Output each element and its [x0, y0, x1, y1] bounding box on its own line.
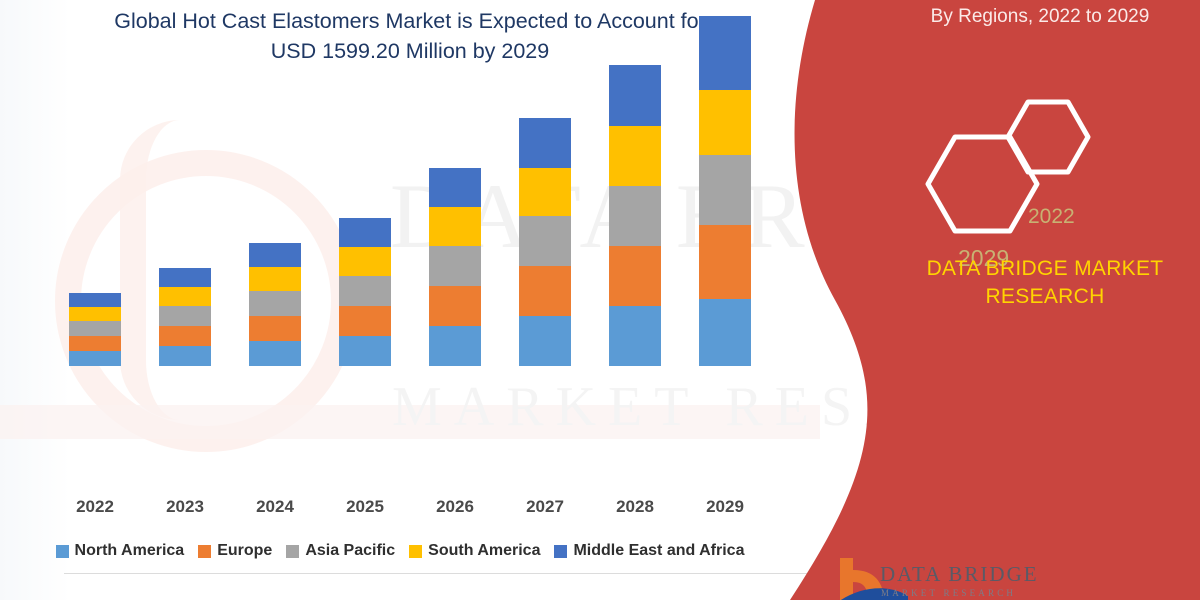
- legend-item[interactable]: South America: [409, 542, 540, 560]
- bar-segment: [249, 316, 301, 341]
- legend-item[interactable]: Middle East and Africa: [554, 542, 744, 560]
- bar-segment: [609, 306, 661, 366]
- bar-segment: [159, 326, 211, 346]
- bar-segment: [69, 351, 121, 366]
- legend-item[interactable]: Europe: [198, 542, 272, 560]
- bar-segment: [699, 155, 751, 225]
- legend-label: South America: [428, 542, 540, 560]
- hexagon-small-icon: [1008, 102, 1088, 172]
- bar-segment: [69, 307, 121, 321]
- bar-column: [249, 243, 301, 366]
- bar-segment: [249, 243, 301, 267]
- chart-legend: North AmericaEuropeAsia PacificSouth Ame…: [0, 538, 800, 564]
- legend-swatch-icon: [554, 545, 567, 558]
- bar-segment: [609, 65, 661, 126]
- brand-line-1: DATA BRIDGE MARKET: [927, 257, 1164, 280]
- bar-column: [429, 168, 481, 366]
- legend-label: Asia Pacific: [305, 542, 395, 560]
- bar-column: [519, 118, 571, 366]
- bar-column: [159, 268, 211, 366]
- legend-swatch-icon: [409, 545, 422, 558]
- bar-segment: [699, 299, 751, 366]
- bar-segment: [339, 276, 391, 306]
- bar-column: [609, 65, 661, 366]
- bar-segment: [609, 246, 661, 306]
- bar-segment: [159, 306, 211, 326]
- bar-segment: [339, 247, 391, 276]
- bar-column: [69, 293, 121, 366]
- bar-segment: [339, 306, 391, 336]
- bar-segment: [699, 16, 751, 90]
- bar-segment: [699, 90, 751, 155]
- brand-line-2: RESEARCH: [985, 285, 1104, 308]
- bar-segment: [69, 336, 121, 351]
- legend-swatch-icon: [286, 545, 299, 558]
- bar-segment: [519, 118, 571, 168]
- bar-segment: [159, 346, 211, 366]
- legend-swatch-icon: [56, 545, 69, 558]
- bar-segment: [249, 291, 301, 316]
- bar-segment: [519, 266, 571, 316]
- brand-name: DATA BRIDGE MARKET RESEARCH: [885, 255, 1200, 311]
- bar-segment: [429, 168, 481, 207]
- bar-segment: [519, 168, 571, 216]
- x-axis-tick-label: 2029: [680, 497, 770, 517]
- x-axis-tick-label: 2028: [590, 497, 680, 517]
- panel-subtitle: By Regions, 2022 to 2029: [880, 6, 1200, 28]
- hexagon-large-icon: [928, 137, 1037, 231]
- bar-segment: [249, 267, 301, 291]
- bar-segment: [609, 126, 661, 186]
- bar-column: [339, 218, 391, 366]
- x-axis-tick-label: 2027: [500, 497, 590, 517]
- legend-item[interactable]: North America: [56, 542, 185, 560]
- legend-label: North America: [75, 542, 185, 560]
- bar-segment: [609, 186, 661, 246]
- hexagon-icons: [900, 80, 1200, 260]
- x-axis-tick-label: 2025: [320, 497, 410, 517]
- x-axis-tick-label: 2024: [230, 497, 320, 517]
- bar-segment: [699, 225, 751, 299]
- bar-segment: [519, 316, 571, 366]
- bar-segment: [159, 268, 211, 287]
- bar-segment: [249, 341, 301, 366]
- infographic-canvas: DATA BRIDGE MARKET RESEARCH Global Hot C…: [0, 0, 1200, 600]
- hexagon-badges: 2029 2022: [900, 80, 1200, 250]
- bar-segment: [69, 321, 121, 336]
- legend-label: Europe: [217, 542, 272, 560]
- bar-segment: [519, 216, 571, 266]
- legend-item[interactable]: Asia Pacific: [286, 542, 395, 560]
- legend-swatch-icon: [198, 545, 211, 558]
- bar-segment: [159, 287, 211, 306]
- x-axis-labels: 20222023202420252026202720282029: [30, 497, 790, 523]
- bar-segment: [429, 246, 481, 286]
- x-axis-line: [64, 573, 812, 574]
- logo-tagline: MARKET RESEARCH: [881, 588, 1016, 598]
- hexagon-small-label: 2022: [1028, 205, 1075, 229]
- bar-column: [699, 16, 751, 366]
- bar-segment: [429, 286, 481, 326]
- bar-group: [30, 0, 790, 483]
- x-axis-tick-label: 2026: [410, 497, 500, 517]
- bar-segment: [69, 293, 121, 307]
- bar-segment: [339, 336, 391, 366]
- legend-label: Middle East and Africa: [573, 542, 744, 560]
- logo-wordmark: DATA BRIDGE: [880, 562, 1039, 587]
- bar-segment: [429, 207, 481, 246]
- x-axis-tick-label: 2023: [140, 497, 230, 517]
- x-axis-tick-label: 2022: [50, 497, 140, 517]
- bar-segment: [339, 218, 391, 247]
- bar-segment: [429, 326, 481, 366]
